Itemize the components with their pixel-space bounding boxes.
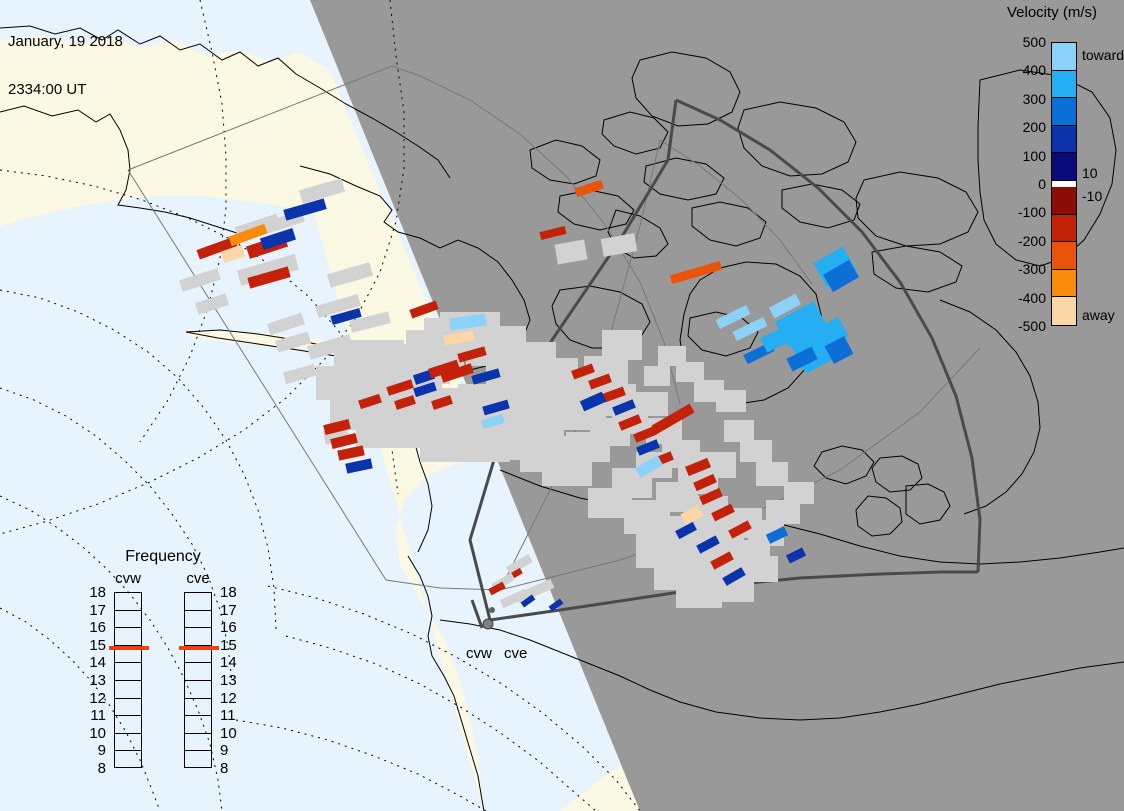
colorbar-tick-label: 300 <box>996 92 1046 106</box>
frequency-tick-label-right: 14 <box>220 655 246 670</box>
colorbar-tick-label: 200 <box>996 120 1046 134</box>
frequency-tick-label-left: 8 <box>80 761 106 776</box>
frequency-tick-label-left: 14 <box>80 655 106 670</box>
frequency-bar-cve <box>184 592 212 768</box>
colorbar-band <box>1052 297 1076 325</box>
station-label-cve: cve <box>504 645 527 662</box>
frequency-column-label-cvw: cvw <box>108 570 148 587</box>
frequency-segment <box>115 716 141 734</box>
colorbar-tick-label: 0 <box>996 177 1046 191</box>
frequency-segment <box>115 699 141 717</box>
colorbar-band <box>1052 215 1076 243</box>
frequency-segment <box>185 751 211 769</box>
frequency-tick-label-right: 15 <box>220 638 246 653</box>
colorbar-tick-label: -300 <box>996 262 1046 276</box>
colorbar-tick-label: -400 <box>996 291 1046 305</box>
station-label-cvw: cvw <box>466 645 492 662</box>
frequency-tick-label-left: 15 <box>80 638 106 653</box>
frequency-tick-label-right: 10 <box>220 726 246 741</box>
colorbar-tick-label: -100 <box>996 205 1046 219</box>
frequency-segment <box>115 628 141 646</box>
colorbar-positive-threshold-label: 10 <box>1082 166 1098 180</box>
colorbar-band <box>1052 187 1076 215</box>
superdarn-map-figure: January, 19 2018 2334:00 UT Velocity (m/… <box>0 0 1124 811</box>
frequency-segment <box>185 681 211 699</box>
frequency-tick-label-right: 12 <box>220 691 246 706</box>
colorbar-band <box>1052 98 1076 126</box>
frequency-segment <box>185 716 211 734</box>
colorbar-toward-label: toward <box>1082 48 1124 62</box>
frequency-column-label-cve: cve <box>178 570 218 587</box>
frequency-segment <box>185 628 211 646</box>
frequency-segment <box>115 593 141 611</box>
frequency-marker-cvw <box>109 646 149 650</box>
colorbar-tick-label: 100 <box>996 149 1046 163</box>
colorbar-negative-threshold-label: -10 <box>1082 189 1102 203</box>
colorbar-tick-label: -200 <box>996 234 1046 248</box>
frequency-legend-title: Frequency <box>78 548 248 566</box>
frequency-tick-label-right: 17 <box>220 603 246 618</box>
frequency-tick-label-left: 12 <box>80 691 106 706</box>
frequency-tick-label-left: 18 <box>80 585 106 600</box>
date-label: January, 19 2018 <box>8 34 123 50</box>
time-label: 2334:00 UT <box>8 82 123 98</box>
frequency-segment <box>185 611 211 629</box>
colorbar-band <box>1052 242 1076 270</box>
colorbar-tick-label: 400 <box>996 63 1046 77</box>
frequency-legend: Frequency cvw cve 1818171716161515141413… <box>78 548 248 788</box>
frequency-tick-label-right: 18 <box>220 585 246 600</box>
frequency-marker-cve <box>179 646 219 650</box>
station-marker-cvw[interactable] <box>483 619 493 629</box>
frequency-segment <box>185 593 211 611</box>
frequency-tick-label-left: 9 <box>80 743 106 758</box>
colorbar-band <box>1052 153 1076 181</box>
frequency-tick-label-left: 17 <box>80 603 106 618</box>
colorbar-band <box>1052 126 1076 154</box>
frequency-segment <box>185 663 211 681</box>
colorbar-title: Velocity (m/s) <box>980 4 1124 21</box>
colorbar-band <box>1052 270 1076 298</box>
frequency-segment <box>115 751 141 769</box>
frequency-bar-cvw <box>114 592 142 768</box>
frequency-tick-label-left: 10 <box>80 726 106 741</box>
frequency-tick-label-right: 9 <box>220 743 246 758</box>
colorbar-gradient <box>1051 42 1077 326</box>
frequency-tick-label-left: 16 <box>80 620 106 635</box>
colorbar-tick-label: -500 <box>996 319 1046 333</box>
frequency-segment <box>115 611 141 629</box>
frequency-tick-label-right: 8 <box>220 761 246 776</box>
frequency-segment <box>115 663 141 681</box>
frequency-segment <box>115 734 141 752</box>
station-marker-cve[interactable] <box>489 607 495 613</box>
frequency-tick-label-right: 13 <box>220 673 246 688</box>
frequency-segment <box>185 734 211 752</box>
timestamp-block: January, 19 2018 2334:00 UT <box>8 2 123 130</box>
frequency-segment <box>115 681 141 699</box>
frequency-tick-label-left: 13 <box>80 673 106 688</box>
frequency-tick-label-right: 11 <box>220 708 246 723</box>
colorbar-band <box>1052 71 1076 99</box>
colorbar-tick-label: 500 <box>996 35 1046 49</box>
frequency-segment <box>185 699 211 717</box>
colorbar-band <box>1052 43 1076 71</box>
frequency-tick-label-left: 11 <box>80 708 106 723</box>
colorbar-away-label: away <box>1082 308 1115 322</box>
velocity-colorbar: Velocity (m/s) 5004003002001000-100-200-… <box>980 4 1124 334</box>
frequency-tick-label-right: 16 <box>220 620 246 635</box>
